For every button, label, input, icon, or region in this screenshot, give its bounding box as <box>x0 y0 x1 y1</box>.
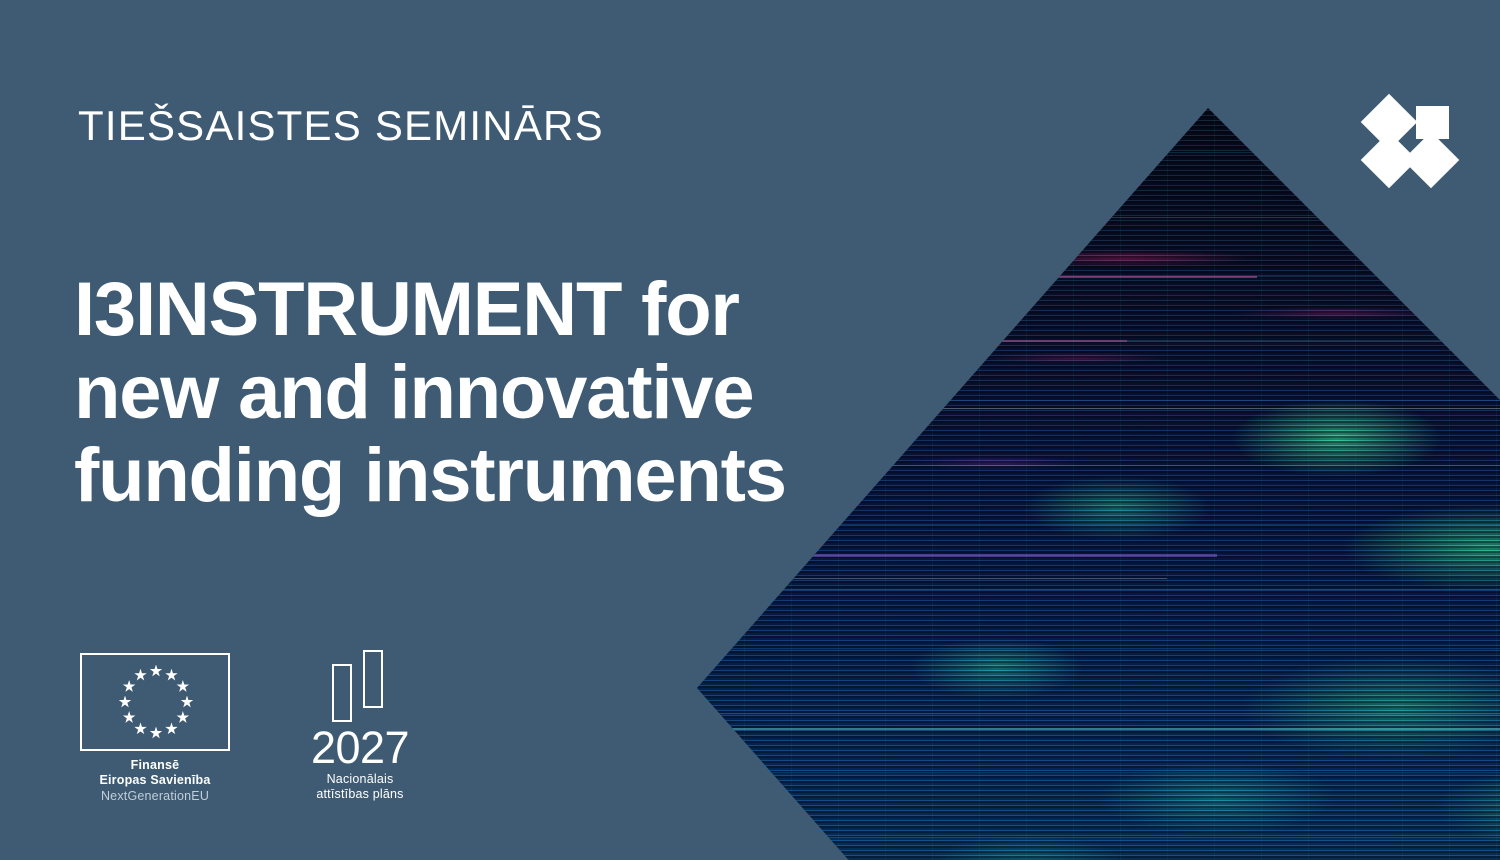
page-title: I3INSTRUMENT for new and innovative fund… <box>74 268 786 517</box>
eu-star-icon <box>165 669 178 682</box>
nap-bars-icon <box>332 650 388 722</box>
headline-line-1: I3INSTRUMENT for <box>74 268 786 351</box>
eu-star-icon <box>119 696 132 709</box>
eyebrow-label: TIEŠSAISTES SEMINĀRS <box>78 102 604 150</box>
eu-emblem-caption: Finansē Eiropas Savienība NextGeneration… <box>80 758 230 804</box>
eu-funding-emblem: Finansē Eiropas Savienība NextGeneration… <box>80 653 232 803</box>
eu-star-icon <box>176 711 189 724</box>
nap-caption-line-2: attīstības plāns <box>290 787 430 802</box>
european-union-flag-icon <box>80 653 230 751</box>
eu-star-icon <box>165 722 178 735</box>
eu-star-circle <box>82 655 228 749</box>
eu-caption-line-2: Eiropas Savienība <box>80 773 230 788</box>
nap-bar-right-icon <box>363 650 383 708</box>
eu-star-icon <box>123 711 136 724</box>
eu-star-icon <box>150 665 163 678</box>
eu-star-icon <box>123 680 136 693</box>
eu-star-icon <box>150 727 163 740</box>
brand-logo-mark <box>1363 100 1459 180</box>
eu-caption-line-3: NextGenerationEU <box>80 788 230 804</box>
diamond-glitch-lines-overlay <box>697 108 1500 860</box>
headline-line-3: funding instruments <box>74 434 786 517</box>
nap-bar-left-icon <box>332 664 352 722</box>
eu-star-icon <box>181 696 194 709</box>
nap-year-label: 2027 <box>290 724 430 772</box>
nap-caption-line-1: Nacionālais <box>290 772 430 787</box>
diamond-shape-bottom-right-icon <box>1403 132 1460 189</box>
digital-glitch-diamond <box>697 108 1500 860</box>
headline-line-2: new and innovative <box>74 351 786 434</box>
poster-canvas: TIEŠSAISTES SEMINĀRS I3INSTRUMENT for ne… <box>0 0 1500 860</box>
nap-2027-logo: 2027 Nacionālais attīstības plāns <box>290 650 430 800</box>
eu-star-icon <box>134 722 147 735</box>
eu-star-icon <box>176 680 189 693</box>
eu-star-icon <box>134 669 147 682</box>
eu-caption-line-1: Finansē <box>80 758 230 773</box>
